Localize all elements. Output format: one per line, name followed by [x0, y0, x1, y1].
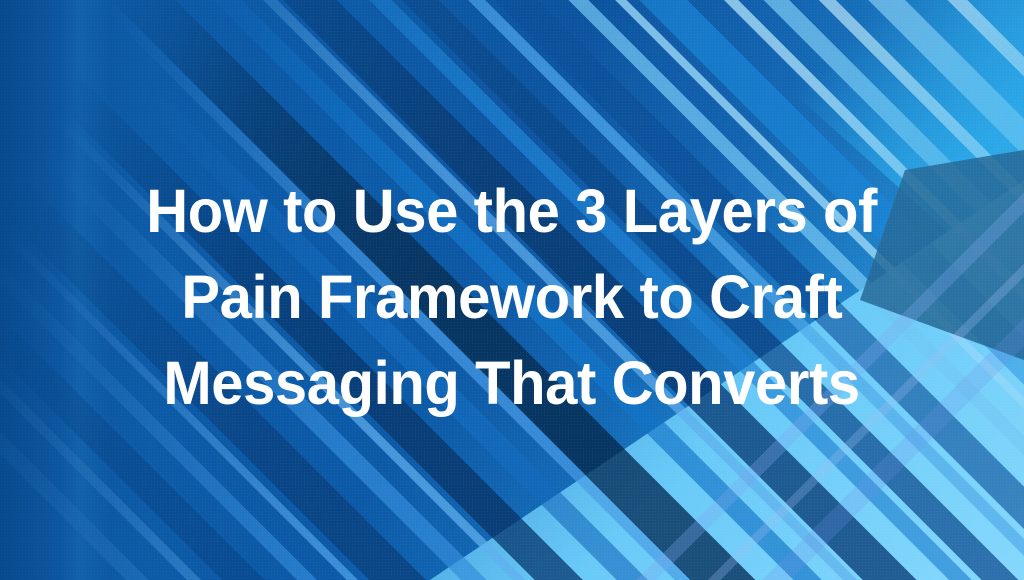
blog-header-banner: How to Use the 3 Layers of Pain Framewor… — [0, 0, 1024, 580]
banner-title: How to Use the 3 Layers of Pain Framewor… — [0, 168, 1024, 426]
title-line-1: How to Use the 3 Layers of — [147, 168, 878, 254]
title-line-2: Pain Framework to Craft — [181, 254, 842, 340]
title-line-3: Messaging That Converts — [164, 340, 860, 426]
